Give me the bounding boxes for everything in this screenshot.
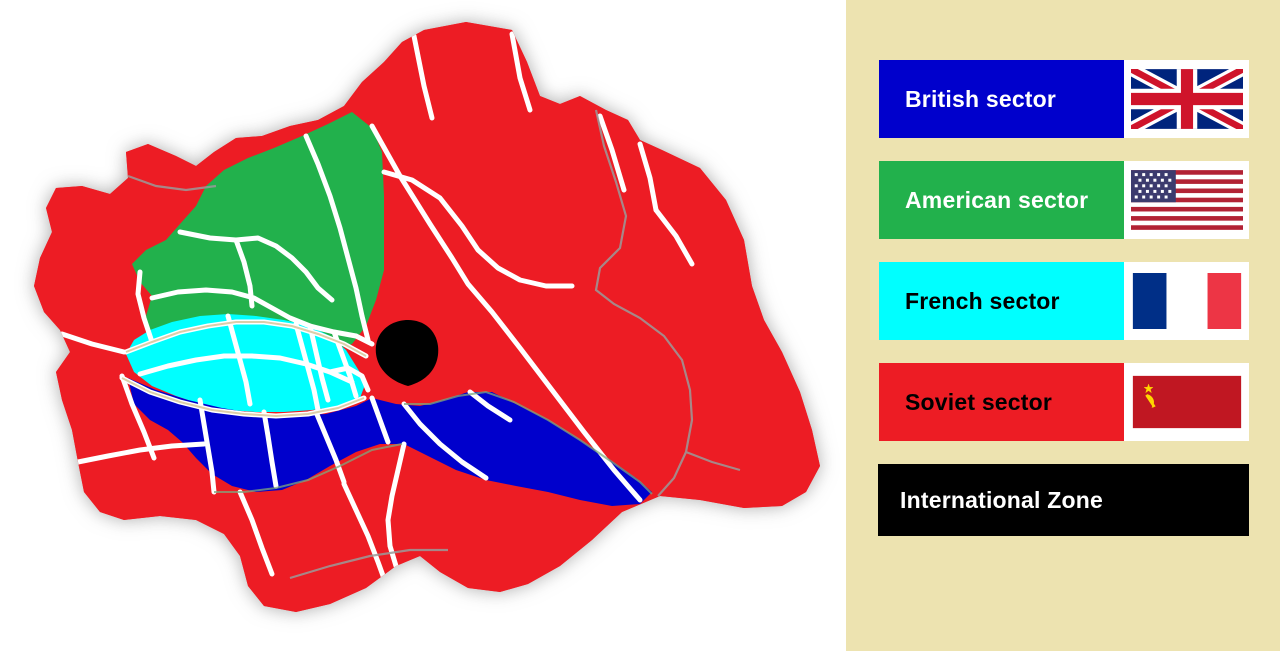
map-sectors: [0, 0, 846, 651]
legend-list: British sector American secto: [879, 60, 1249, 559]
legend-flag-cell-british: [1124, 60, 1249, 138]
flag-united-kingdom-icon: [1131, 69, 1243, 129]
legend-row-soviet[interactable]: Soviet sector: [879, 363, 1249, 441]
legend-row-british[interactable]: British sector: [879, 60, 1249, 138]
legend-row-american[interactable]: American sector: [879, 161, 1249, 239]
legend-swatch-soviet: Soviet sector: [879, 363, 1124, 441]
vienna-sectors-map-page: British sector American secto: [0, 0, 1280, 651]
map-area: [0, 0, 846, 651]
legend-flag-cell-french: [1124, 262, 1249, 340]
legend-flag-cell-soviet: [1124, 363, 1249, 441]
legend-swatch-international-zone: International Zone: [878, 464, 1249, 536]
legend-swatch-french: French sector: [879, 262, 1124, 340]
legend-row-international-zone[interactable]: International Zone: [878, 464, 1249, 536]
flag-france-icon: [1131, 271, 1243, 331]
flag-united-states-icon: [1131, 170, 1243, 230]
legend-row-french[interactable]: French sector: [879, 262, 1249, 340]
legend-swatch-american: American sector: [879, 161, 1124, 239]
flag-soviet-union-icon: [1131, 372, 1243, 432]
legend-swatch-british: British sector: [879, 60, 1124, 138]
legend-panel: British sector American secto: [846, 0, 1280, 651]
vienna-map-graphic: [0, 0, 846, 651]
legend-flag-cell-american: [1124, 161, 1249, 239]
